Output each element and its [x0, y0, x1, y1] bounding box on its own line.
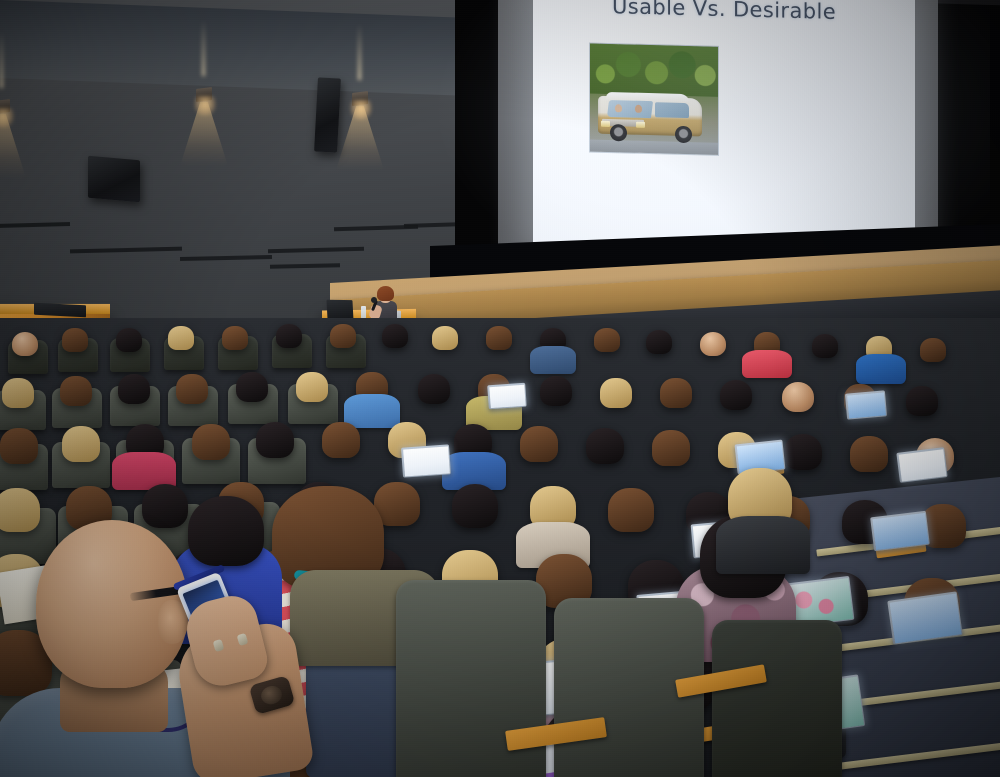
attendee-head — [222, 326, 248, 350]
van-headlight-right — [636, 122, 645, 128]
attendee-head — [920, 338, 946, 362]
attendee-head — [2, 378, 34, 408]
attendee-head — [520, 426, 558, 462]
attendee-head — [62, 328, 88, 352]
attendee-head — [236, 372, 268, 402]
foreground-attendee — [8, 512, 338, 777]
attendee-head — [322, 422, 360, 458]
van-wheel-rear — [675, 126, 692, 143]
sconce-uplight — [358, 24, 361, 80]
presenter-hair — [377, 286, 394, 301]
attendee-head — [330, 324, 356, 348]
sconce-uplight — [0, 32, 3, 88]
van-windshield — [607, 100, 653, 118]
van-headlight-left — [601, 121, 610, 127]
attendee-head — [418, 374, 450, 404]
van-passenger — [615, 104, 622, 112]
slide-title: Usable Vs. Desirable — [533, 0, 915, 26]
attendee-head — [0, 428, 38, 464]
attendee-head — [586, 428, 624, 464]
attendee-head — [660, 378, 692, 408]
sconce-uplight — [202, 20, 205, 76]
attendee-head — [168, 326, 194, 350]
attendee-head — [812, 334, 838, 358]
ceiling-speaker-icon — [88, 156, 140, 203]
attendee-head — [540, 376, 572, 406]
attendee-head — [594, 328, 620, 352]
attendee-head — [256, 422, 294, 458]
attendee-head — [600, 378, 632, 408]
laptop-screen — [489, 384, 525, 407]
attendee-head — [432, 326, 458, 350]
attendee-head — [60, 376, 92, 406]
van-wheel-front — [610, 124, 627, 141]
attendee-shoulders — [716, 516, 810, 574]
slide-background: Usable Vs. Desirable — [533, 0, 915, 258]
attendee-head — [646, 330, 672, 354]
attendee-head — [382, 324, 408, 348]
attendee-head — [62, 426, 100, 462]
attendee-head — [192, 424, 230, 460]
toyota-van — [596, 81, 710, 146]
slide-image-van — [590, 43, 718, 154]
attendee-head — [116, 328, 142, 352]
attendee-head — [176, 374, 208, 404]
projected-slide: Usable Vs. Desirable — [533, 0, 915, 258]
van-side-window — [655, 102, 689, 118]
van-driver — [635, 105, 642, 113]
attendee-head — [700, 332, 726, 356]
attendee-head — [12, 332, 38, 356]
lecture-hall-photo: Usable Vs. Desirable — [0, 0, 1000, 777]
column-speaker-icon — [314, 77, 341, 152]
attendee-head — [118, 374, 150, 404]
microphone-capsule — [371, 297, 377, 303]
attendee-head — [486, 326, 512, 350]
attendee-head — [296, 372, 328, 402]
attendee-head — [276, 324, 302, 348]
seat — [712, 620, 842, 777]
